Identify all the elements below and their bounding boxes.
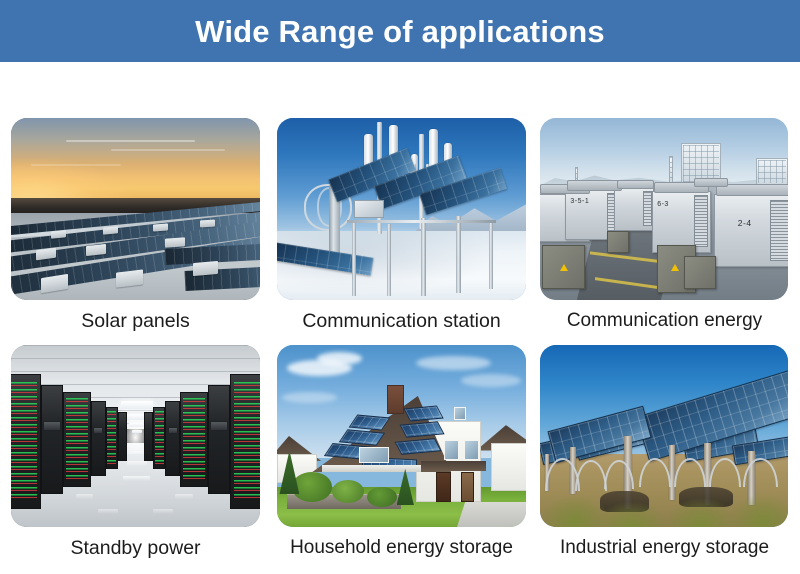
card-image-standby-power	[11, 345, 260, 527]
equipment-box	[354, 200, 384, 218]
page-header: Wide Range of applications	[0, 0, 800, 62]
support-leg	[387, 224, 391, 297]
rack-indicator-leds	[11, 382, 37, 501]
server-rack	[165, 401, 180, 476]
window	[444, 440, 459, 460]
roof-vent	[116, 269, 143, 287]
rack-door-handle	[210, 421, 227, 430]
card-label-household-energy-storage: Household energy storage	[277, 527, 526, 559]
application-card-industrial-energy-storage[interactable]: Industrial energy storage	[540, 345, 789, 559]
roof-solar-panel	[339, 429, 385, 445]
unit-fan-cover	[567, 180, 622, 191]
card-image-communication-energy: 3-5-1 6-3 2-4	[540, 118, 788, 300]
application-card-standby-power[interactable]: Standby power	[11, 345, 260, 559]
driveway	[457, 502, 526, 527]
server-rack	[180, 392, 207, 487]
application-card-communication-station[interactable]: Communication station	[277, 118, 526, 332]
mounting-post	[669, 445, 675, 500]
card-image-industrial-energy-storage	[540, 345, 788, 527]
grass-clump	[728, 494, 788, 527]
porch-eave	[421, 461, 486, 470]
shrub	[367, 487, 397, 507]
server-rack	[91, 401, 106, 476]
rack-door-handle	[43, 421, 60, 430]
distant-building	[756, 158, 788, 185]
support-leg	[421, 218, 425, 296]
rack-indicator-leds	[66, 398, 87, 481]
floor-reflection	[127, 461, 147, 465]
card-image-solar-panels	[11, 118, 260, 300]
server-rack	[41, 385, 63, 494]
support-leg	[489, 220, 493, 289]
dormer-window	[359, 447, 389, 463]
side-door	[461, 472, 473, 501]
roof-vent	[200, 220, 215, 228]
card-label-solar-panels: Solar panels	[11, 300, 260, 332]
unit-tag: 6-3	[657, 201, 669, 208]
floor-reflection	[175, 494, 192, 499]
roof-vent	[165, 237, 185, 247]
window	[464, 440, 479, 460]
unit-grille	[770, 200, 788, 261]
rack-indicator-leds	[234, 382, 260, 501]
page-title: Wide Range of applications	[195, 16, 605, 47]
application-card-solar-panels[interactable]: Solar panels	[11, 118, 260, 332]
card-image-household-energy-storage	[277, 345, 526, 527]
card-label-communication-station: Communication station	[277, 300, 526, 332]
warning-triangle-icon	[671, 264, 679, 271]
server-rack	[153, 407, 165, 469]
server-rack	[230, 374, 260, 509]
server-rack	[106, 407, 118, 469]
floor-reflection	[123, 476, 150, 481]
outdoor-unit: 6-3	[652, 191, 712, 253]
neighbour-wall	[491, 443, 526, 490]
applications-grid: Solar panels	[0, 62, 800, 574]
cloud	[461, 374, 521, 387]
warning-triangle-icon	[560, 264, 568, 271]
rack-indicator-leds	[155, 411, 164, 465]
cloud-streak	[66, 140, 195, 142]
support-beam	[347, 220, 496, 223]
gable-window	[454, 407, 466, 420]
ceiling-lamp	[129, 423, 144, 427]
front-door	[436, 472, 451, 501]
chimney	[387, 385, 404, 414]
card-label-industrial-energy-storage: Industrial energy storage	[540, 527, 789, 559]
roof-vent	[153, 223, 168, 231]
server-rack	[144, 412, 153, 461]
floor-reflection	[130, 451, 142, 454]
floor-reflection	[98, 509, 118, 514]
rack-door-handle	[168, 427, 178, 434]
server-rack	[11, 374, 41, 509]
floor-reflection	[153, 509, 173, 514]
outdoor-unit	[614, 187, 654, 231]
unit-grille	[694, 195, 708, 246]
server-rack	[63, 392, 90, 487]
unit-fan-cover	[617, 180, 654, 189]
rack-indicator-leds	[107, 411, 116, 465]
card-image-communication-station	[277, 118, 526, 300]
ceiling-lamp	[121, 401, 153, 408]
cloud-streak	[111, 149, 226, 151]
unit-tag: 2-4	[738, 218, 752, 228]
ceiling-lamp	[132, 430, 142, 433]
card-label-standby-power: Standby power	[11, 527, 260, 559]
floor-reflection	[76, 494, 93, 499]
application-card-communication-energy[interactable]: 3-5-1 6-3 2-4	[540, 118, 789, 332]
rack-door-handle	[93, 427, 103, 434]
antenna-tower	[669, 156, 673, 185]
unit-grille	[643, 191, 652, 227]
shrub	[292, 472, 332, 501]
server-rack	[118, 412, 127, 461]
power-cabinet	[684, 256, 716, 289]
support-leg	[352, 220, 356, 296]
outdoor-unit: 2-4	[714, 194, 788, 267]
unit-fan-cover	[694, 178, 729, 187]
card-label-communication-energy: Communication energy	[540, 300, 789, 332]
rack-indicator-leds	[183, 398, 204, 481]
support-leg	[456, 216, 460, 292]
unit-tag: 3-5-1	[570, 198, 589, 205]
roof-vent	[193, 261, 218, 276]
server-rack	[208, 385, 230, 494]
porch-canopy	[322, 465, 422, 472]
cloud	[317, 352, 362, 365]
power-cabinet	[607, 231, 629, 253]
application-card-household-energy-storage[interactable]: Household energy storage	[277, 345, 526, 559]
application-showcase-page: Wide Range of applications	[0, 0, 800, 574]
cloud-streak	[31, 164, 121, 166]
